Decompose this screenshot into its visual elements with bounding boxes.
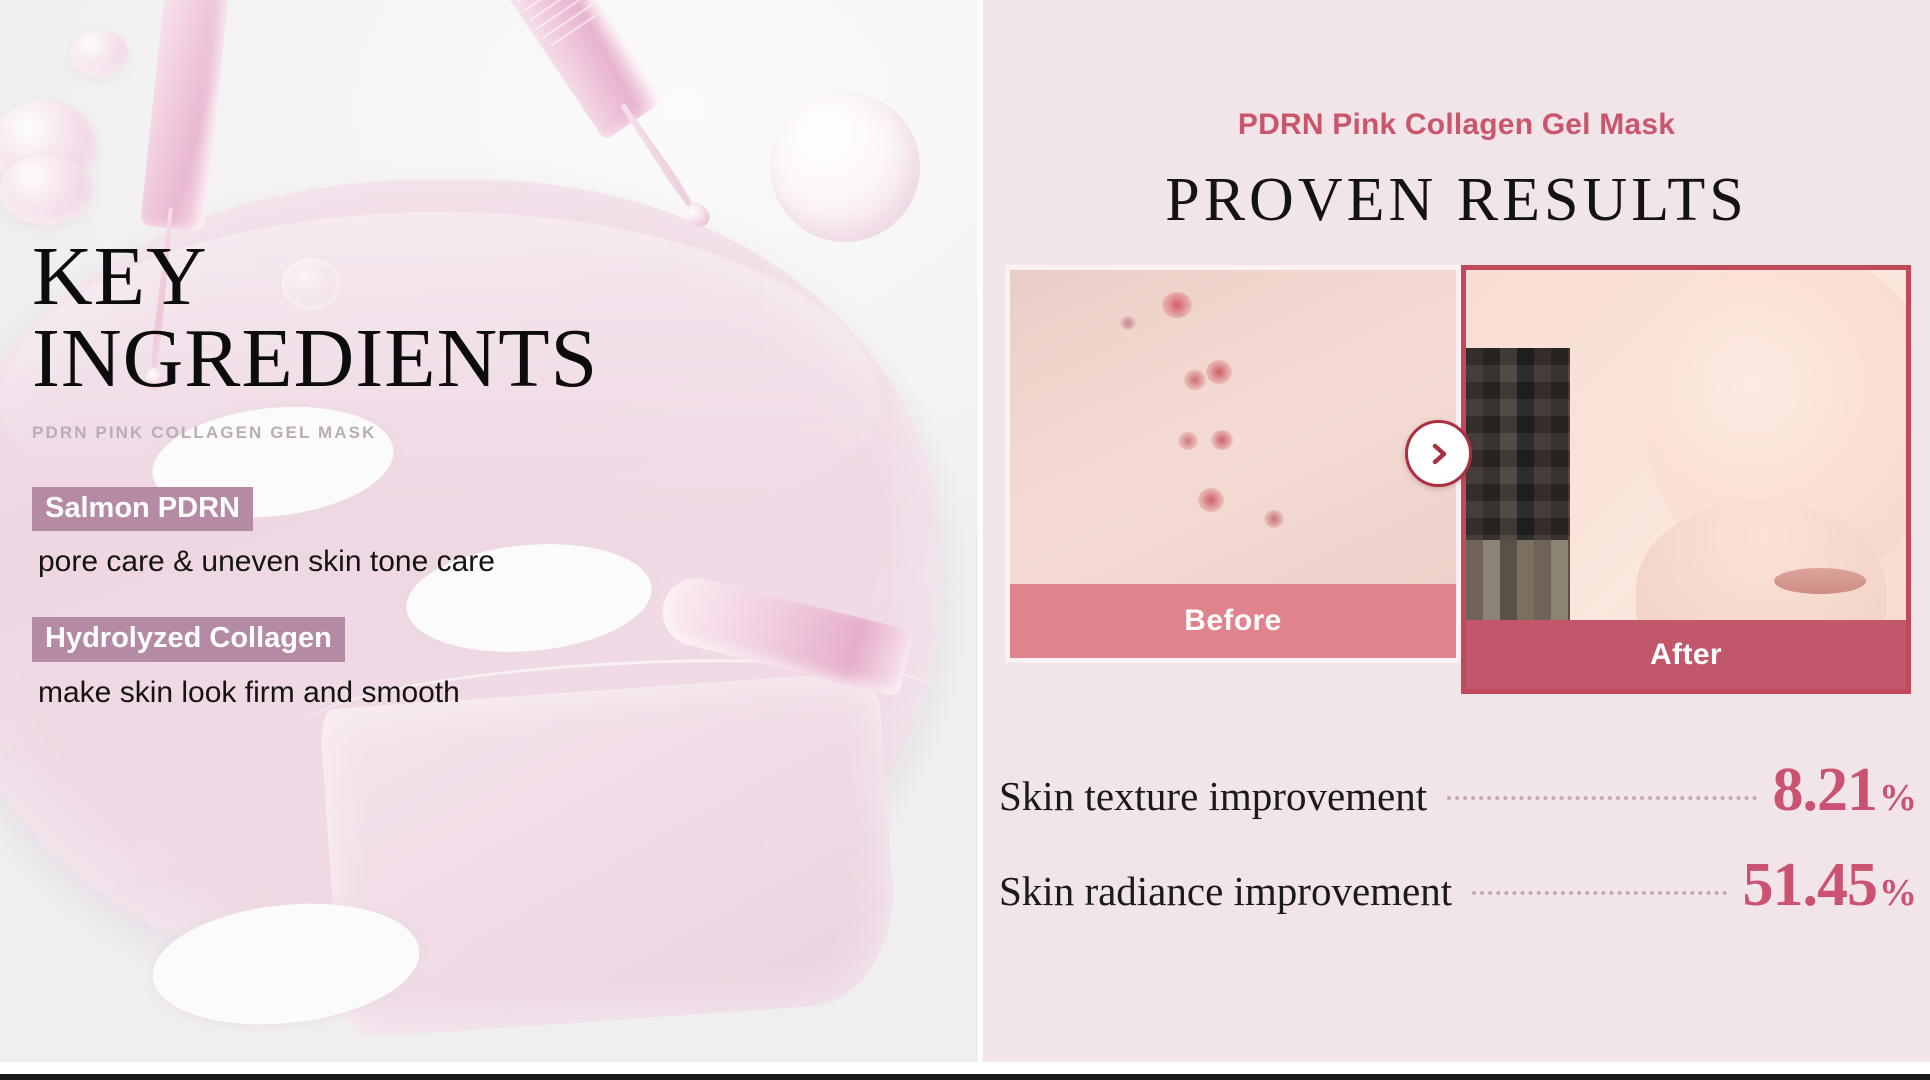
- after-card: After: [1461, 265, 1911, 694]
- chevron-right-icon[interactable]: [1405, 420, 1472, 487]
- page-title-line-2: INGREDIENTS: [32, 318, 732, 400]
- after-lip-detail: [1774, 568, 1866, 594]
- stat-label: Skin radiance improvement: [999, 867, 1452, 915]
- leader-dots: [1472, 891, 1726, 895]
- stat-value: 51.45: [1743, 850, 1878, 921]
- gel-droplet: [0, 155, 92, 225]
- before-label: Before: [1010, 584, 1456, 658]
- page-title: KEY INGREDIENTS: [32, 236, 732, 401]
- ingredient-description: make skin look firm and smooth: [32, 676, 732, 710]
- blemish-spot: [1184, 370, 1206, 390]
- stat-unit: %: [1879, 871, 1917, 915]
- stat-unit: %: [1879, 776, 1917, 820]
- after-photo: [1466, 270, 1906, 620]
- blemish-spot: [1162, 292, 1192, 318]
- blemish-spot: [1120, 316, 1136, 330]
- results-title: PROVEN RESULTS: [983, 165, 1930, 236]
- stat-row: Skin radiance improvement 51.45 %: [999, 850, 1917, 921]
- results-stats-list: Skin texture improvement 8.21 % Skin rad…: [999, 755, 1917, 945]
- stat-value: 8.21: [1773, 755, 1878, 826]
- stat-label: Skin texture improvement: [999, 772, 1427, 820]
- proven-results-panel: PDRN Pink Collagen Gel Mask PROVEN RESUL…: [983, 0, 1930, 1062]
- bottom-rule: [0, 1074, 1930, 1080]
- ingredient-description: pore care & uneven skin tone care: [32, 545, 732, 579]
- ingredient-badge: Salmon PDRN: [32, 487, 253, 531]
- after-label: After: [1466, 620, 1906, 689]
- key-ingredients-panel: KEY INGREDIENTS PDRN PINK COLLAGEN GEL M…: [0, 0, 978, 1062]
- blemish-spot: [1206, 360, 1232, 384]
- leader-dots: [1447, 796, 1756, 800]
- mask-folded-flap: [319, 671, 901, 1039]
- stat-row: Skin texture improvement 8.21 %: [999, 755, 1917, 826]
- gel-sphere: [770, 92, 920, 242]
- ingredient-item-2: Hydrolyzed Collagen make skin look firm …: [32, 617, 732, 709]
- key-ingredients-text-block: KEY INGREDIENTS PDRN PINK COLLAGEN GEL M…: [32, 236, 732, 710]
- gel-droplet: [70, 30, 128, 76]
- page-title-line-1: KEY: [32, 230, 208, 323]
- before-card: Before: [1005, 265, 1461, 663]
- product-detail-page: KEY INGREDIENTS PDRN PINK COLLAGEN GEL M…: [0, 0, 1930, 1080]
- privacy-mosaic-blur: [1466, 348, 1570, 620]
- blemish-spot: [1198, 488, 1224, 512]
- results-kicker: PDRN Pink Collagen Gel Mask: [983, 108, 1930, 142]
- blemish-spot: [1211, 430, 1233, 450]
- ingredient-item-1: Salmon PDRN pore care & uneven skin tone…: [32, 487, 732, 579]
- blemish-spot: [1178, 432, 1198, 450]
- before-after-comparison: Before After: [1005, 265, 1911, 694]
- blemish-spot: [1264, 510, 1284, 528]
- product-subtitle: PDRN PINK COLLAGEN GEL MASK: [32, 423, 732, 443]
- ingredient-badge: Hydrolyzed Collagen: [32, 617, 345, 661]
- before-photo: [1010, 270, 1456, 594]
